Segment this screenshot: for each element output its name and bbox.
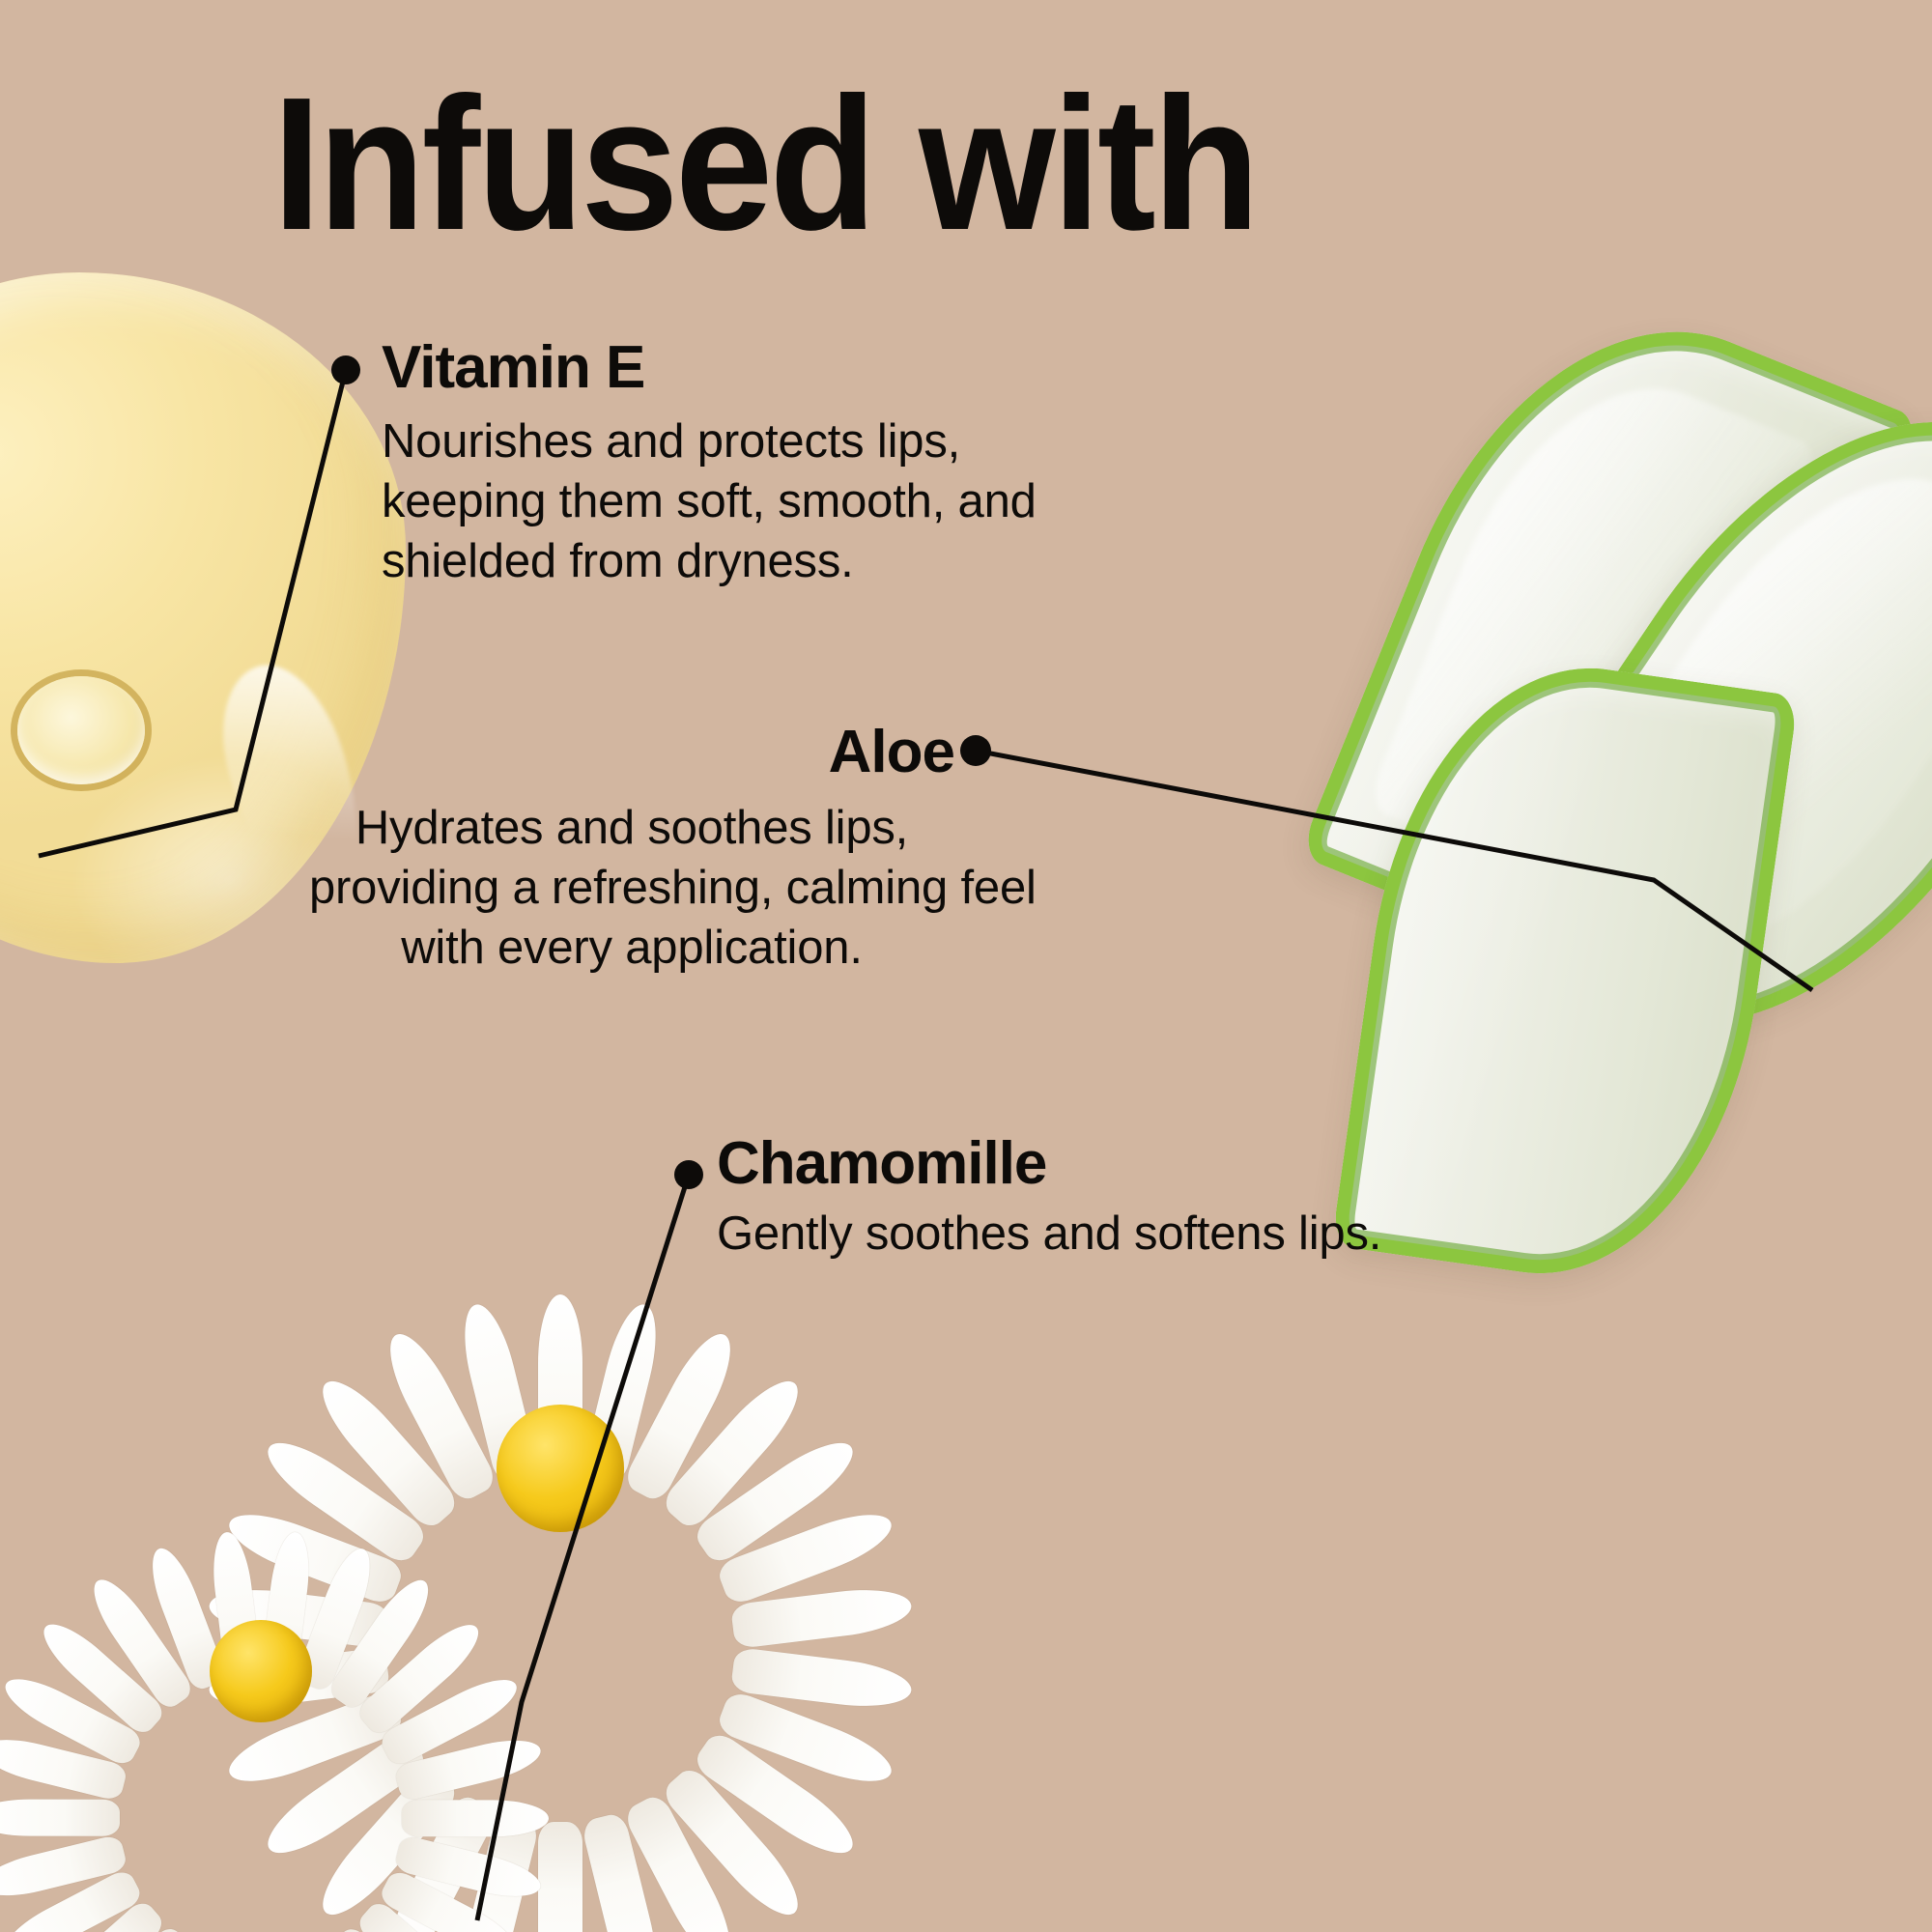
ingredient-description-chamomille: Gently soothes and softens lips. bbox=[717, 1205, 1381, 1264]
leader-line-vitamin-e bbox=[39, 370, 346, 856]
leader-dot-vitamin-e bbox=[331, 355, 360, 384]
description-line: Hydrates and soothes lips, bbox=[309, 799, 954, 859]
ingredient-name-aloe: Aloe bbox=[309, 721, 954, 783]
leader-dot-aloe bbox=[960, 735, 991, 766]
description-line: Gently soothes and softens lips. bbox=[717, 1205, 1381, 1264]
ingredient-block-chamomille: Chamomille Gently soothes and softens li… bbox=[717, 1132, 1381, 1264]
ingredient-name-vitamin-e: Vitamin E bbox=[382, 336, 1037, 399]
ingredient-description-aloe: Hydrates and soothes lips, providing a r… bbox=[309, 799, 954, 978]
ingredient-block-vitamin-e: Vitamin E Nourishes and protects lips, k… bbox=[382, 336, 1037, 591]
leader-dot-chamomille bbox=[674, 1160, 703, 1189]
leader-lines bbox=[0, 0, 1932, 1932]
description-line: with every application. bbox=[309, 919, 954, 979]
ingredient-block-aloe: Aloe Hydrates and soothes lips, providin… bbox=[309, 721, 954, 978]
leader-line-chamomille bbox=[477, 1175, 689, 1920]
ingredient-name-chamomille: Chamomille bbox=[717, 1132, 1381, 1195]
description-line: providing a refreshing, calming feel bbox=[309, 859, 954, 919]
description-line: shielded from dryness. bbox=[382, 532, 1037, 592]
description-line: keeping them soft, smooth, and bbox=[382, 472, 1037, 532]
leader-line-aloe bbox=[976, 751, 1812, 990]
infographic-canvas: Infused with Vitamin E Nourishes and pro… bbox=[0, 0, 1932, 1932]
description-line: Nourishes and protects lips, bbox=[382, 412, 1037, 472]
page-title: Infused with bbox=[272, 70, 1257, 259]
ingredient-description-vitamin-e: Nourishes and protects lips, keeping the… bbox=[382, 412, 1037, 591]
